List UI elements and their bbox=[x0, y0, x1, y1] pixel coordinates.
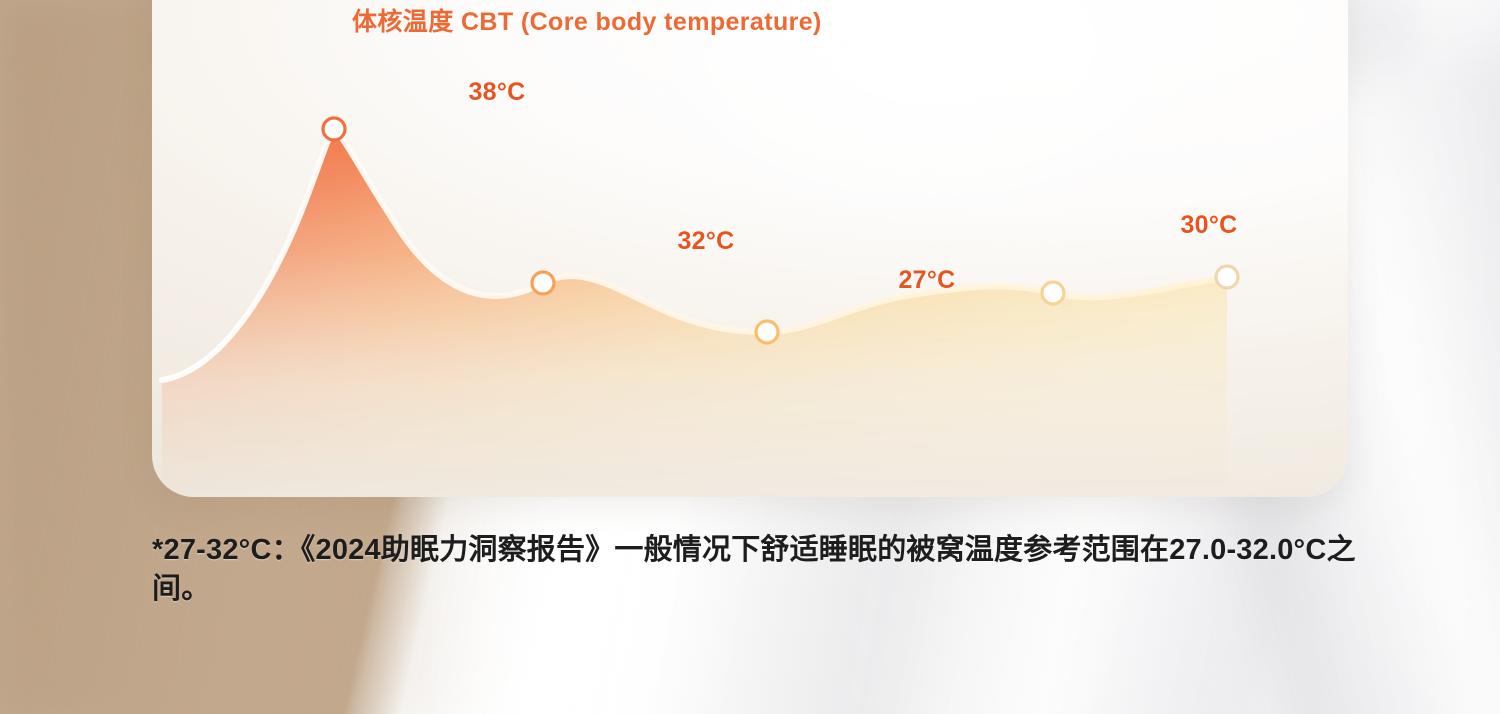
data-label-3: 27°C bbox=[898, 266, 955, 295]
screenshot-root: 体核温度 CBT (Core body temperature) 38°C 32… bbox=[0, 0, 1500, 714]
chart-card: 体核温度 CBT (Core body temperature) 38°C 32… bbox=[152, 0, 1348, 497]
chart-title: 体核温度 CBT (Core body temperature) bbox=[352, 2, 822, 38]
footnote-caption: *27-32°C：《2024助眠力洞察报告》一般情况下舒适睡眠的被窝温度参考范围… bbox=[152, 531, 1410, 609]
cbt-area-chart bbox=[152, 0, 1348, 497]
data-label-1: 38°C bbox=[468, 78, 525, 107]
data-label-2: 32°C bbox=[677, 227, 734, 256]
data-label-4: 30°C bbox=[1180, 211, 1237, 240]
